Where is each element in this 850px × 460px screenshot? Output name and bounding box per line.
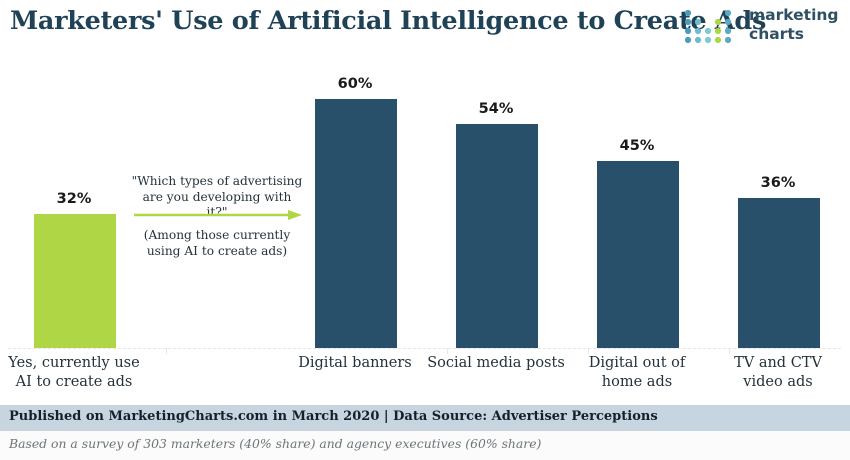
brand-logo: marketing charts <box>683 7 843 51</box>
value-label-0: 32% <box>34 191 114 207</box>
annotation-subtext-line2: using AI to create ads) <box>131 244 303 260</box>
footer-published-band: Published on MarketingCharts.com in Marc… <box>0 405 850 431</box>
value-label-4: 36% <box>738 175 818 191</box>
value-label-2: 54% <box>456 101 536 117</box>
brand-name-line1: marketing <box>749 6 839 25</box>
marketingcharts-dot-logo-icon <box>683 8 741 46</box>
page-header: Marketers' Use of Artificial Intelligenc… <box>0 0 850 62</box>
category-label-2: Social media posts <box>414 354 578 373</box>
page-title: Marketers' Use of Artificial Intelligenc… <box>10 6 766 36</box>
footer-survey-note: Based on a survey of 303 marketers (40% … <box>9 436 541 451</box>
brand-name-line2: charts <box>749 25 839 44</box>
value-label-1: 60% <box>315 76 395 92</box>
plot-area: 32%60%54%45%36% Yes, currently useAI to … <box>0 62 850 402</box>
brand-name: marketing charts <box>749 6 839 44</box>
x-axis-line <box>8 348 842 349</box>
annotation-subtext-line1: (Among those currently <box>131 228 303 244</box>
bar-3 <box>597 161 679 348</box>
axis-tick-0 <box>166 348 167 354</box>
category-label-4: TV and CTVvideo ads <box>696 354 850 392</box>
bar-4 <box>738 198 820 348</box>
category-label-3: Digital out ofhome ads <box>555 354 719 392</box>
green-right-arrow-icon <box>132 209 304 221</box>
category-label-1: Digital banners <box>273 354 437 373</box>
value-label-3: 45% <box>597 138 677 154</box>
bar-1 <box>315 99 397 348</box>
annotation-subtext: (Among those currently using AI to creat… <box>131 228 303 259</box>
bar-2 <box>456 124 538 348</box>
annotation-question-line1: "Which types of advertising <box>131 174 303 190</box>
footer-published-text: Published on MarketingCharts.com in Marc… <box>9 409 658 424</box>
category-label-0: Yes, currently useAI to create ads <box>0 354 156 392</box>
bar-0 <box>34 214 116 348</box>
chart-page: Marketers' Use of Artificial Intelligenc… <box>0 0 850 460</box>
